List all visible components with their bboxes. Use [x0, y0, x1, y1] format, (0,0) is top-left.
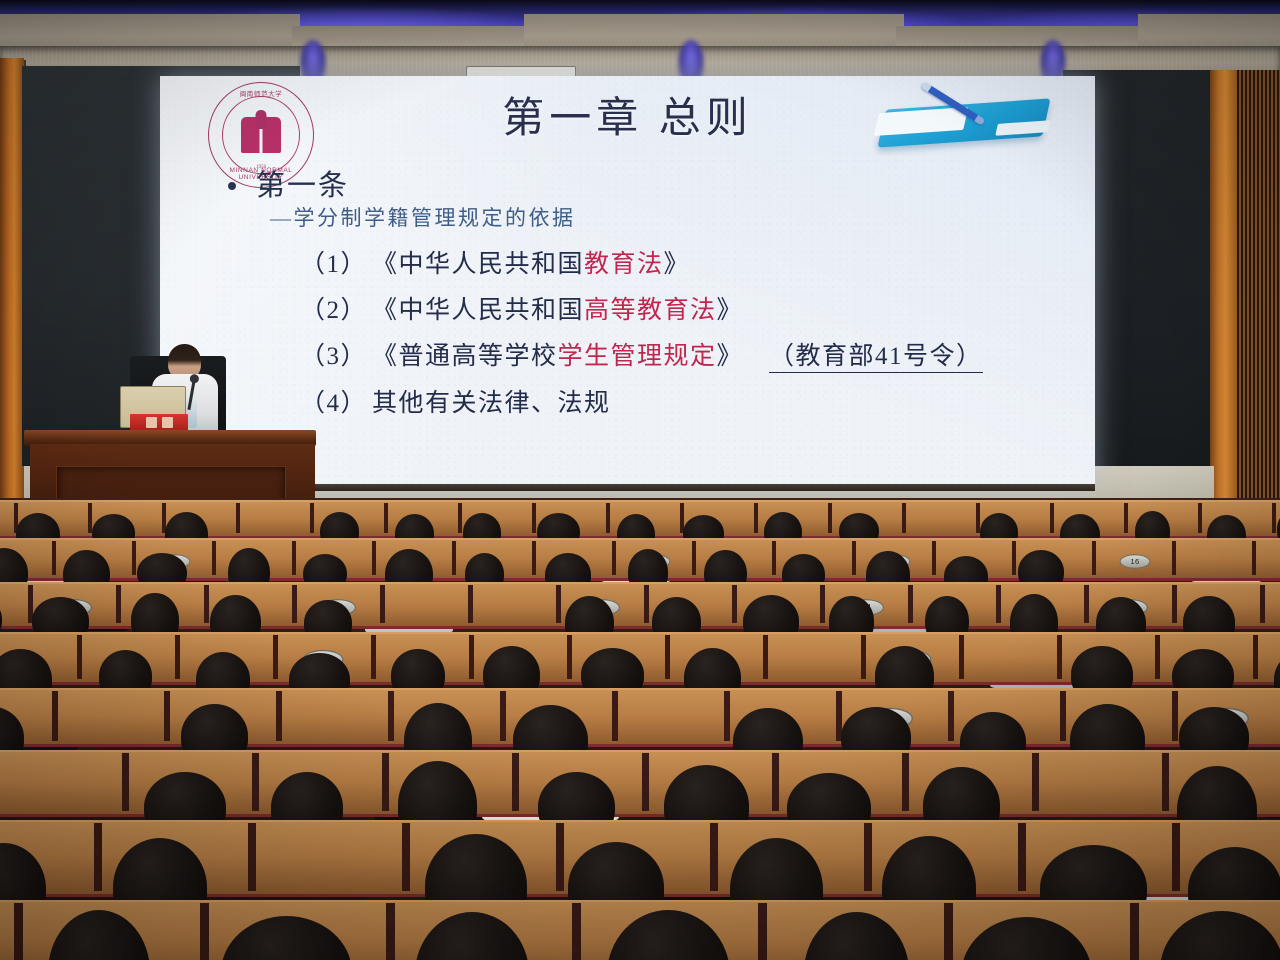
seat-divider	[380, 585, 385, 623]
seat-divider	[122, 753, 129, 811]
list-item-pre: 《普通高等学校	[372, 336, 558, 372]
list-item-highlight: 高等教育法	[584, 290, 717, 326]
wall-slat-panel-right	[1237, 70, 1280, 540]
seat-divider	[469, 635, 474, 679]
seat-divider	[556, 585, 561, 623]
seat-divider	[88, 503, 92, 533]
seat-divider	[273, 635, 278, 679]
seat-divider	[310, 503, 314, 533]
list-item: （4） 其他有关法律、法规	[300, 383, 983, 419]
seat-divider	[1124, 503, 1128, 533]
seat-divider	[1018, 823, 1026, 891]
seat-divider	[14, 903, 23, 960]
seat-divider	[948, 691, 954, 741]
list-item: （3） 《普通高等学校学生管理规定》（教育部41号令）	[300, 336, 983, 373]
list-item-index: （3）	[300, 336, 372, 372]
seat-divider	[556, 823, 564, 891]
seat-divider	[458, 503, 462, 533]
seat-divider	[710, 823, 718, 891]
seat-divider	[1198, 503, 1202, 533]
seat-divider	[1084, 585, 1089, 623]
wall-wood-trim-left	[0, 58, 24, 528]
seat-divider	[572, 903, 581, 960]
list-item-post: 》	[717, 290, 744, 326]
audience-seating-area: 161416141616141614161416141614161416	[0, 498, 1280, 960]
seat-divider	[642, 753, 649, 811]
seat-divider	[567, 635, 572, 679]
seat-divider	[402, 823, 410, 891]
seat-divider	[1253, 635, 1258, 679]
seat-divider	[292, 585, 297, 623]
seat-divider	[758, 903, 767, 960]
seat-divider	[276, 691, 282, 741]
notebook-icon	[875, 94, 1053, 150]
bullet-subheading: —学分制学籍管理规定的依据	[270, 202, 576, 232]
seat-divider	[772, 753, 779, 811]
bullet-heading: 第一条	[256, 162, 349, 204]
wall-wood-trim-right	[1210, 70, 1238, 540]
seat-divider	[468, 585, 473, 623]
seat-divider	[1272, 503, 1276, 533]
seat-divider	[861, 635, 866, 679]
seat-divider	[1012, 541, 1016, 575]
seat-number-plate: 16	[1120, 554, 1151, 568]
seat-divider	[828, 503, 832, 533]
seat-divider	[1060, 691, 1066, 741]
slide-bullet-heading-row: 第一条	[228, 162, 349, 204]
seat-divider	[959, 635, 964, 679]
list-item-index: （2）	[300, 290, 372, 326]
seat-divider	[852, 541, 856, 575]
seat-divider	[1050, 503, 1054, 533]
list-item-post: 》	[664, 244, 691, 280]
list-item-pre: 《中华人民共和国	[372, 244, 584, 280]
seat-divider	[692, 541, 696, 575]
seat-divider	[292, 541, 296, 575]
placard-char	[146, 417, 157, 428]
seat-divider	[94, 823, 102, 891]
seat-divider	[612, 541, 616, 575]
seat-divider	[372, 541, 376, 575]
seat-divider	[77, 635, 82, 679]
seat-divider	[754, 503, 758, 533]
seat-divider	[512, 753, 519, 811]
seat-divider	[864, 823, 872, 891]
seat-divider	[612, 691, 618, 741]
seat-divider	[1172, 585, 1177, 623]
seat-divider	[204, 585, 209, 623]
seat-divider	[820, 585, 825, 623]
list-item: （1） 《中华人民共和国教育法》	[300, 244, 983, 280]
seat-divider	[944, 903, 953, 960]
bullet-dot-icon	[228, 182, 236, 190]
seat-divider	[732, 585, 737, 623]
list-item-highlight: 教育法	[584, 244, 664, 280]
seat-divider	[212, 541, 216, 575]
seat-divider	[200, 903, 209, 960]
list-item-post: 》	[717, 336, 744, 372]
presentation-slide: 闽南师范大学 1958 MINNAN NORMAL UNIVERSITY 第一章…	[160, 76, 1095, 488]
seat-divider	[248, 823, 256, 891]
list-item-index: （4）	[300, 383, 372, 419]
seat-divider	[252, 753, 259, 811]
seat-divider	[52, 691, 58, 741]
seat-divider	[164, 691, 170, 741]
seat-divider	[371, 635, 376, 679]
seat-divider	[386, 903, 395, 960]
seat-divider	[1252, 541, 1256, 575]
list-item-index: （1）	[300, 244, 372, 280]
seat-divider	[932, 541, 936, 575]
seat-divider	[606, 503, 610, 533]
seat-divider	[772, 541, 776, 575]
seat-divider	[384, 503, 388, 533]
seat-divider	[116, 585, 121, 623]
projection-screen: 闽南师范大学 1958 MINNAN NORMAL UNIVERSITY 第一章…	[160, 76, 1095, 488]
seat-divider	[996, 585, 1001, 623]
seat-divider	[1130, 903, 1139, 960]
seat-divider	[382, 753, 389, 811]
list-item-pre: 《中华人民共和国	[372, 290, 584, 326]
seat-divider	[665, 635, 670, 679]
seat-divider	[452, 541, 456, 575]
seat-divider	[724, 691, 730, 741]
seat-divider	[1032, 753, 1039, 811]
seat-divider	[763, 635, 768, 679]
list-item-highlight: 学生管理规定	[558, 336, 717, 372]
lecture-hall-photo: 闽南师范大学 1958 MINNAN NORMAL UNIVERSITY 第一章…	[0, 0, 1280, 960]
seat-divider	[902, 503, 906, 533]
seat-divider	[500, 691, 506, 741]
seat-divider	[1092, 541, 1096, 575]
seat-divider	[236, 503, 240, 533]
seat-divider	[1260, 585, 1265, 623]
seat-divider	[52, 541, 56, 575]
list-item-pre: 其他有关法律、法规	[372, 383, 611, 419]
slide-item-list: （1） 《中华人民共和国教育法》 （2） 《中华人民共和国高等教育法》 （3） …	[300, 244, 983, 429]
seat-divider	[532, 503, 536, 533]
seat-divider	[1172, 823, 1180, 891]
seat-divider	[1155, 635, 1160, 679]
list-item: （2） 《中华人民共和国高等教育法》	[300, 290, 983, 326]
seat-divider	[532, 541, 536, 575]
seat-divider	[644, 585, 649, 623]
seat-divider	[388, 691, 394, 741]
seat-divider	[1172, 691, 1178, 741]
seat-divider	[1172, 541, 1176, 575]
list-item-note: （教育部41号令）	[769, 336, 983, 373]
seat-divider	[1162, 753, 1169, 811]
seat-divider	[1057, 635, 1062, 679]
seat-divider	[908, 585, 913, 623]
seat-divider	[902, 753, 909, 811]
seat-divider	[132, 541, 136, 575]
seat-divider	[175, 635, 180, 679]
